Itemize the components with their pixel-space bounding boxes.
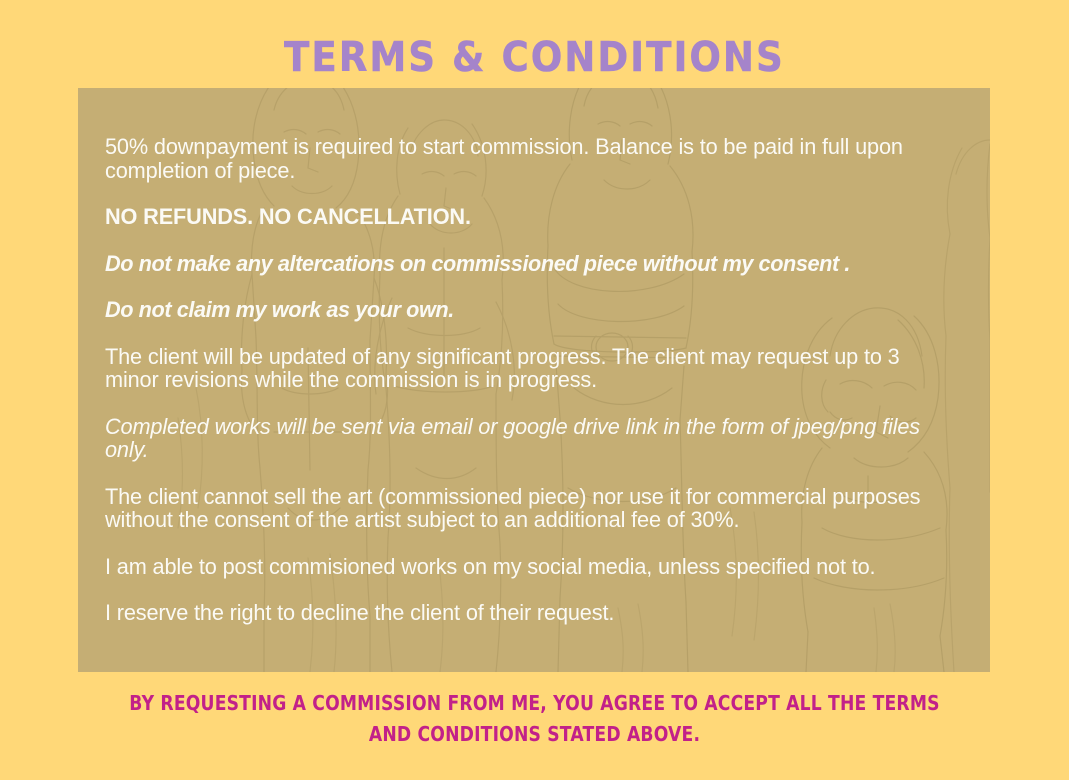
term-no-resale: The client cannot sell the art (commissi… [105, 485, 943, 532]
term-no-alterations: Do not make any altercations on commissi… [105, 252, 943, 276]
page-title: Terms & Conditions [0, 33, 1069, 81]
term-no-refunds: NO REFUNDS. NO CANCELLATION. [105, 205, 943, 229]
term-right-to-decline: I reserve the right to decline the clien… [105, 601, 943, 625]
terms-and-conditions-poster: Terms & Conditions [0, 0, 1069, 780]
term-delivery-format: Completed works will be sent via email o… [105, 415, 943, 462]
terms-list: 50% downpayment is required to start com… [105, 135, 973, 625]
term-no-claiming: Do not claim my work as your own. [105, 298, 943, 322]
term-downpayment: 50% downpayment is required to start com… [105, 135, 943, 182]
term-progress-updates: The client will be updated of any signif… [105, 345, 943, 392]
terms-panel: 50% downpayment is required to start com… [78, 88, 990, 672]
footer-line-1: By requesting a commission from me, you … [75, 688, 994, 719]
footer-agreement-note: By requesting a commission from me, you … [75, 688, 994, 750]
footer-line-2: and conditions stated above. [75, 719, 994, 750]
term-social-media-posting: I am able to post commisioned works on m… [105, 555, 943, 579]
